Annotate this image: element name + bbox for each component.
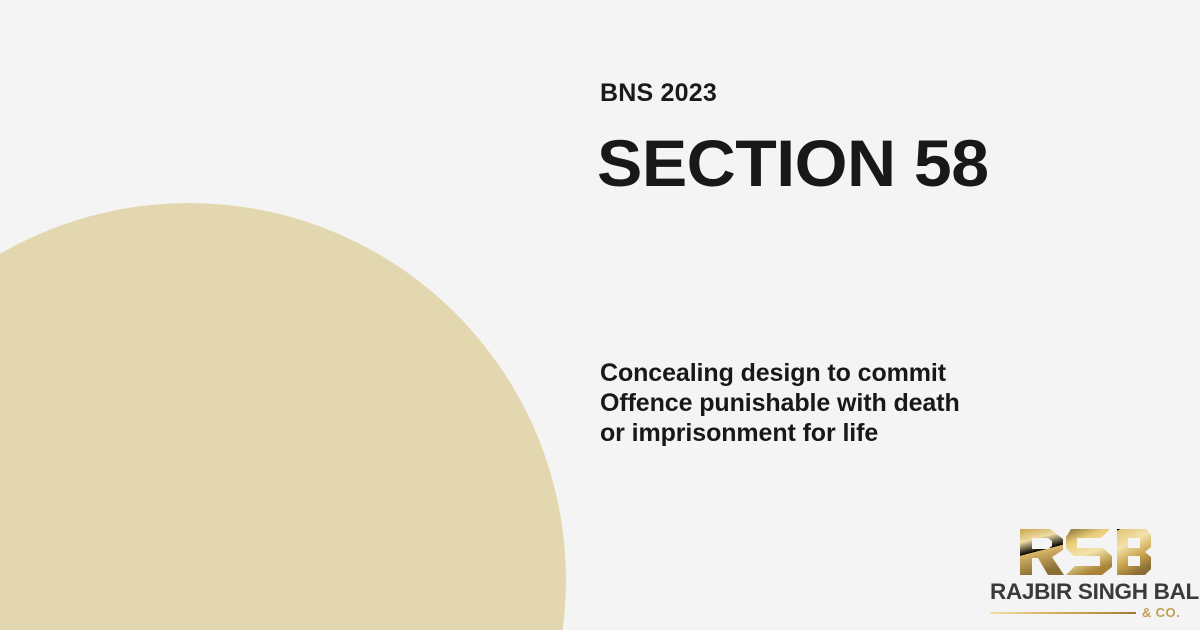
- eyebrow-label: BNS 2023: [600, 81, 717, 106]
- poster-canvas: BNS 2023 SECTION 58 Concealing design to…: [0, 0, 1200, 630]
- description-line: or imprisonment for life: [600, 418, 1070, 448]
- description-text: Concealing design to commit Offence puni…: [600, 358, 1070, 448]
- logo-wordmark: RAJBIR SINGH BAL: [990, 581, 1180, 604]
- rsb-monogram-icon: [1017, 528, 1152, 576]
- logo-divider-rule: [990, 612, 1136, 614]
- logo-footer: & CO.: [990, 606, 1180, 619]
- page-title: SECTION 58: [597, 130, 989, 196]
- description-line: Offence punishable with death: [600, 388, 1070, 418]
- logo-suffix-label: & CO.: [1142, 606, 1180, 619]
- decorative-circle: [0, 203, 566, 630]
- description-line: Concealing design to commit: [600, 358, 1070, 388]
- brand-logo: RAJBIR SINGH BAL & CO.: [990, 528, 1180, 618]
